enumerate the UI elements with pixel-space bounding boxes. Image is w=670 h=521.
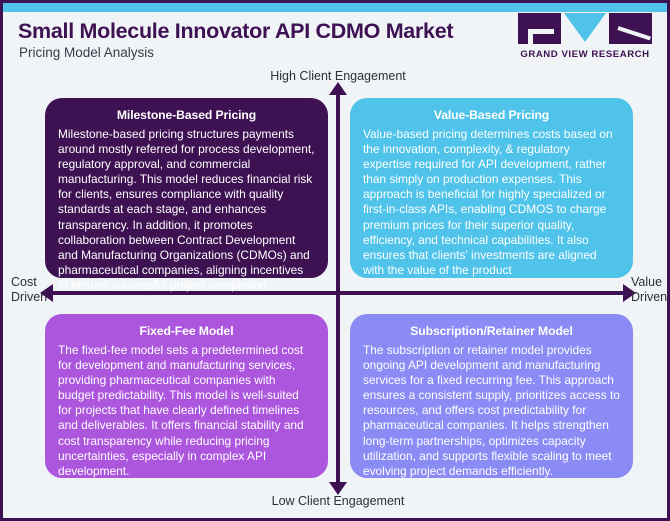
top-accent-bar <box>3 3 667 12</box>
quadrant-title: Fixed-Fee Model <box>58 324 315 338</box>
quadrant-card-milestone: Milestone-Based Pricing Milestone-based … <box>45 98 328 278</box>
logo-wordmark: GRAND VIEW RESEARCH <box>515 49 655 60</box>
quadrant-title: Value-Based Pricing <box>363 108 620 122</box>
axis-label-bottom: Low Client Engagement <box>3 494 670 508</box>
axis-label-top: High Client Engagement <box>3 69 670 83</box>
quadrant-card-value-based: Value-Based Pricing Value-based pricing … <box>350 98 633 278</box>
quadrant-body: Value-based pricing determines costs bas… <box>363 127 620 278</box>
axis-label-left-line1: Cost <box>11 275 47 290</box>
quadrant-title: Subscription/Retainer Model <box>363 324 620 338</box>
axis-label-left-line2: Driven <box>11 290 47 305</box>
logo-mark <box>515 13 655 44</box>
quadrant-card-subscription: Subscription/Retainer Model The subscrip… <box>350 314 633 478</box>
infographic-canvas: Small Molecule Innovator API CDMO Market… <box>0 0 670 521</box>
quadrant-title: Milestone-Based Pricing <box>58 108 315 122</box>
logo-letter-g-icon <box>518 13 561 44</box>
logo-letter-v-icon <box>564 13 606 42</box>
axis-label-right-line2: Driven <box>631 290 667 305</box>
axis-label-right: Value Driven <box>631 275 667 305</box>
arrow-up-icon <box>329 82 347 95</box>
quadrant-body: Milestone-based pricing structures payme… <box>58 127 315 293</box>
axis-label-left: Cost Driven <box>11 275 47 305</box>
quadrant-body: The subscription or retainer model provi… <box>363 343 620 479</box>
quadrant-body: The fixed-fee model sets a predetermined… <box>58 343 315 479</box>
logo-letter-r-icon <box>609 13 652 44</box>
page-title: Small Molecule Innovator API CDMO Market <box>18 19 453 44</box>
axis-label-right-line1: Value <box>631 275 667 290</box>
brand-logo: GRAND VIEW RESEARCH <box>515 13 655 60</box>
page-subtitle: Pricing Model Analysis <box>19 45 154 60</box>
quadrant-card-fixed-fee: Fixed-Fee Model The fixed-fee model sets… <box>45 314 328 478</box>
vertical-axis-line <box>336 91 340 483</box>
